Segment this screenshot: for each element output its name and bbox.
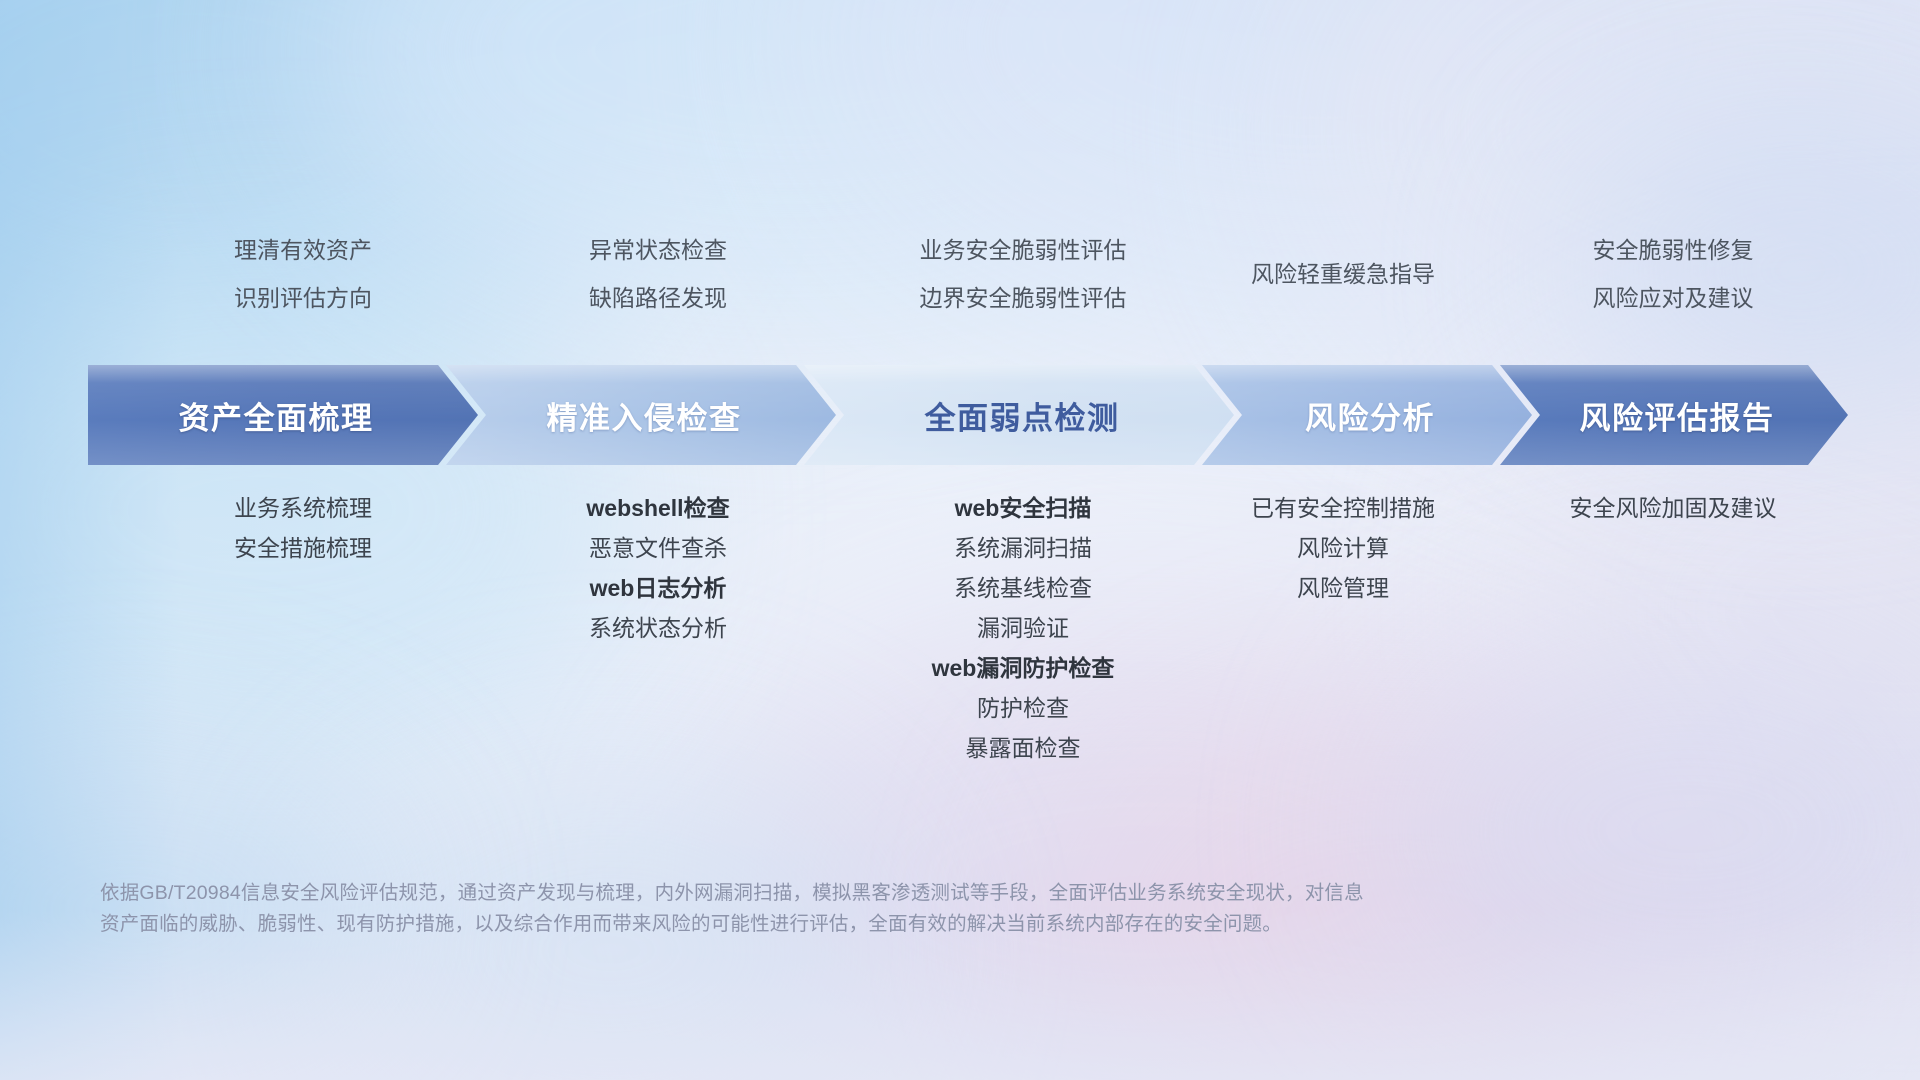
bottom-item: web漏洞防护检查 [763,648,1283,688]
footer-line-2: 资产面临的威胁、脆弱性、现有防护措施，以及综合作用而带来风险的可能性进行评估，全… [100,909,1600,940]
chevron-label: 精准入侵检查 [547,393,742,438]
chevron-stage-risk-analysis[interactable]: 风险分析 [1202,365,1532,465]
bottom-item: 防护检查 [763,688,1283,728]
process-diagram: 理清有效资产识别评估方向异常状态检查缺陷路径发现业务安全脆弱性评估边界安全脆弱性… [0,0,1920,1080]
top-annotation-group-risk-report: 安全脆弱性修复风险应对及建议 [1413,226,1920,322]
bottom-item: 风险计算 [1083,528,1603,568]
chevron-stage-asset-inventory[interactable]: 资产全面梳理 [88,365,478,465]
bottom-item: 暴露面检查 [763,728,1283,768]
bottom-item: 漏洞验证 [763,608,1283,648]
chevron-band: 资产全面梳理精准入侵检查全面弱点检测风险分析风险评估报告 [88,365,1848,465]
chevron-stage-weakness-detection[interactable]: 全面弱点检测 [804,365,1234,465]
top-annotation-item: 风险应对及建议 [1413,274,1920,322]
bottom-item-group-risk-report: 安全风险加固及建议 [1413,488,1920,528]
chevron-label: 资产全面梳理 [179,393,374,438]
stage-top-annotations: 理清有效资产识别评估方向异常状态检查缺陷路径发现业务安全脆弱性评估边界安全脆弱性… [0,232,1920,322]
footer-description: 依据GB/T20984信息安全风险评估规范，通过资产发现与梳理，内外网漏洞扫描，… [100,878,1600,940]
footer-line-1: 依据GB/T20984信息安全风险评估规范，通过资产发现与梳理，内外网漏洞扫描，… [100,878,1600,909]
top-annotation-item: 安全脆弱性修复 [1413,226,1920,274]
chevron-label: 全面弱点检测 [925,393,1120,438]
chevron-label: 风险分析 [1305,393,1435,438]
chevron-stage-intrusion-check[interactable]: 精准入侵检查 [446,365,836,465]
bottom-item: 安全风险加固及建议 [1413,488,1920,528]
chevron-label: 风险评估报告 [1580,393,1775,438]
bottom-item: 风险管理 [1083,568,1603,608]
chevron-stage-risk-report[interactable]: 风险评估报告 [1500,365,1848,465]
